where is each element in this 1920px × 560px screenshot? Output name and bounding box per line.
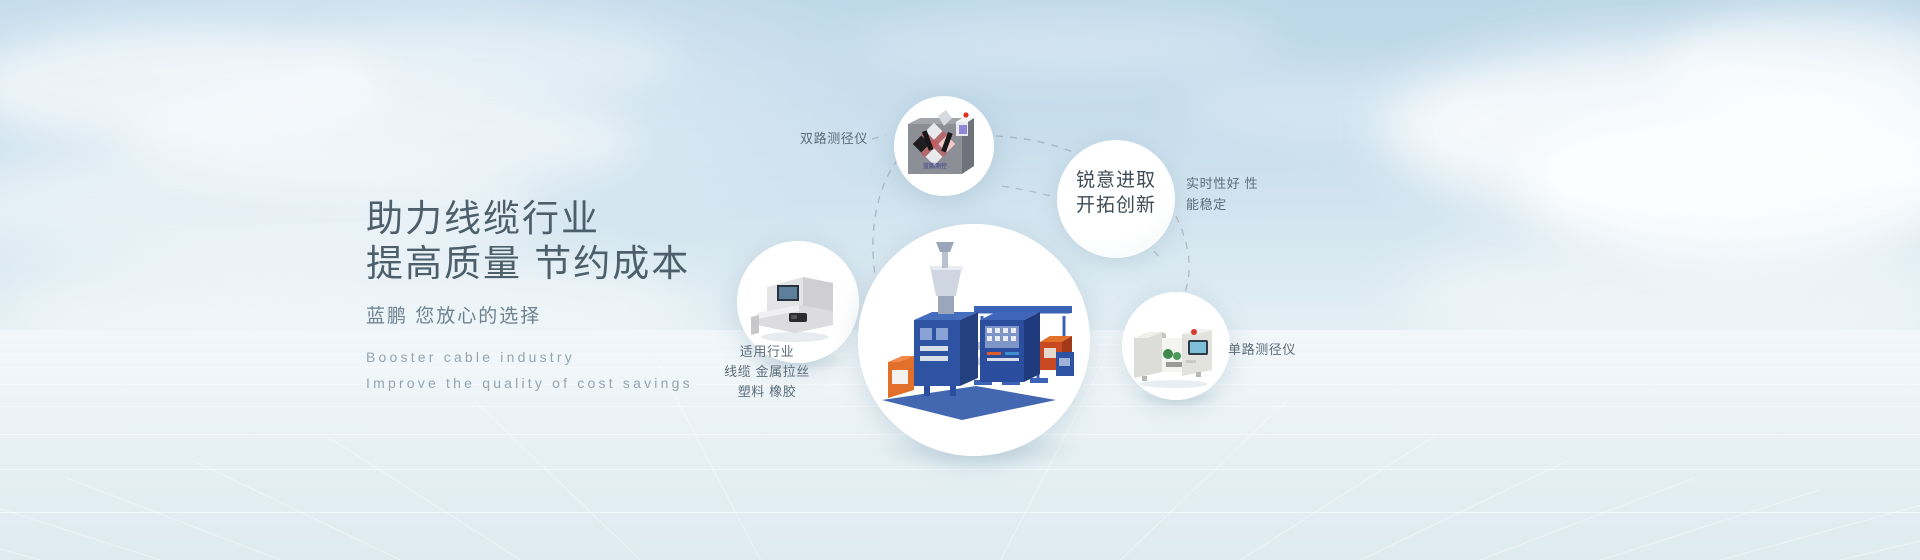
headline-english-2: Improve the quality of cost savings bbox=[366, 370, 926, 396]
hero-banner: 助力线缆行业 提高质量 节约成本 蓝鹏 您放心的选择 Booster cable… bbox=[0, 0, 1920, 560]
label-features: 实时性好 性能稳定 bbox=[1186, 173, 1266, 215]
floor-grid-line-vertical bbox=[1840, 506, 1920, 560]
cloud-decor bbox=[300, 20, 680, 100]
floor-grid-line-vertical bbox=[193, 460, 401, 560]
floor-grid-line-vertical bbox=[1360, 460, 1568, 560]
floor-grid-line-horizontal bbox=[0, 512, 1920, 513]
floor-grid-line-vertical bbox=[0, 499, 41, 560]
product-bubble-extrusion-line[interactable] bbox=[858, 224, 1090, 456]
label-dual-gauge: 双路测径仪 bbox=[800, 129, 868, 149]
device-logo-text: 蓝鹏测控 bbox=[923, 162, 947, 170]
cloud-decor bbox=[860, 10, 1280, 80]
slogan-line-2: 开拓创新 bbox=[1057, 193, 1175, 218]
floor-grid-line-vertical bbox=[66, 477, 281, 560]
single-diameter-gauge-illustration bbox=[1122, 292, 1230, 400]
slogan-badge-text: 锐意进取 开拓创新 bbox=[1057, 168, 1175, 218]
label-industry-block: 适用行业 线缆 金属拉丝 塑料 橡胶 bbox=[724, 342, 810, 402]
label-feature-realtime: 实时性好 性能稳定 bbox=[1186, 173, 1266, 215]
label-industry-line-2: 塑料 橡胶 bbox=[724, 382, 810, 402]
label-industry-title: 适用行业 bbox=[724, 342, 810, 362]
extrusion-line-illustration bbox=[858, 224, 1090, 456]
dual-diameter-gauge-illustration: 蓝鹏测控 bbox=[894, 96, 994, 196]
label-single-gauge: 单路测径仪 bbox=[1228, 340, 1296, 360]
headline-line-1: 助力线缆行业 bbox=[366, 196, 926, 241]
product-bubble-single-gauge[interactable] bbox=[1122, 292, 1230, 400]
slogan-line-1: 锐意进取 bbox=[1057, 168, 1175, 193]
label-industry-line-1: 线缆 金属拉丝 bbox=[724, 362, 810, 382]
floor-grid-line-vertical bbox=[1240, 436, 1434, 560]
floor-grid-line-vertical bbox=[1720, 499, 1920, 560]
floor-grid-line-vertical bbox=[326, 436, 520, 560]
product-bubble-dual-gauge[interactable]: 蓝鹏测控 bbox=[894, 96, 994, 196]
floor-grid-line-vertical bbox=[0, 490, 161, 560]
floor-grid-line-vertical bbox=[1480, 477, 1695, 560]
